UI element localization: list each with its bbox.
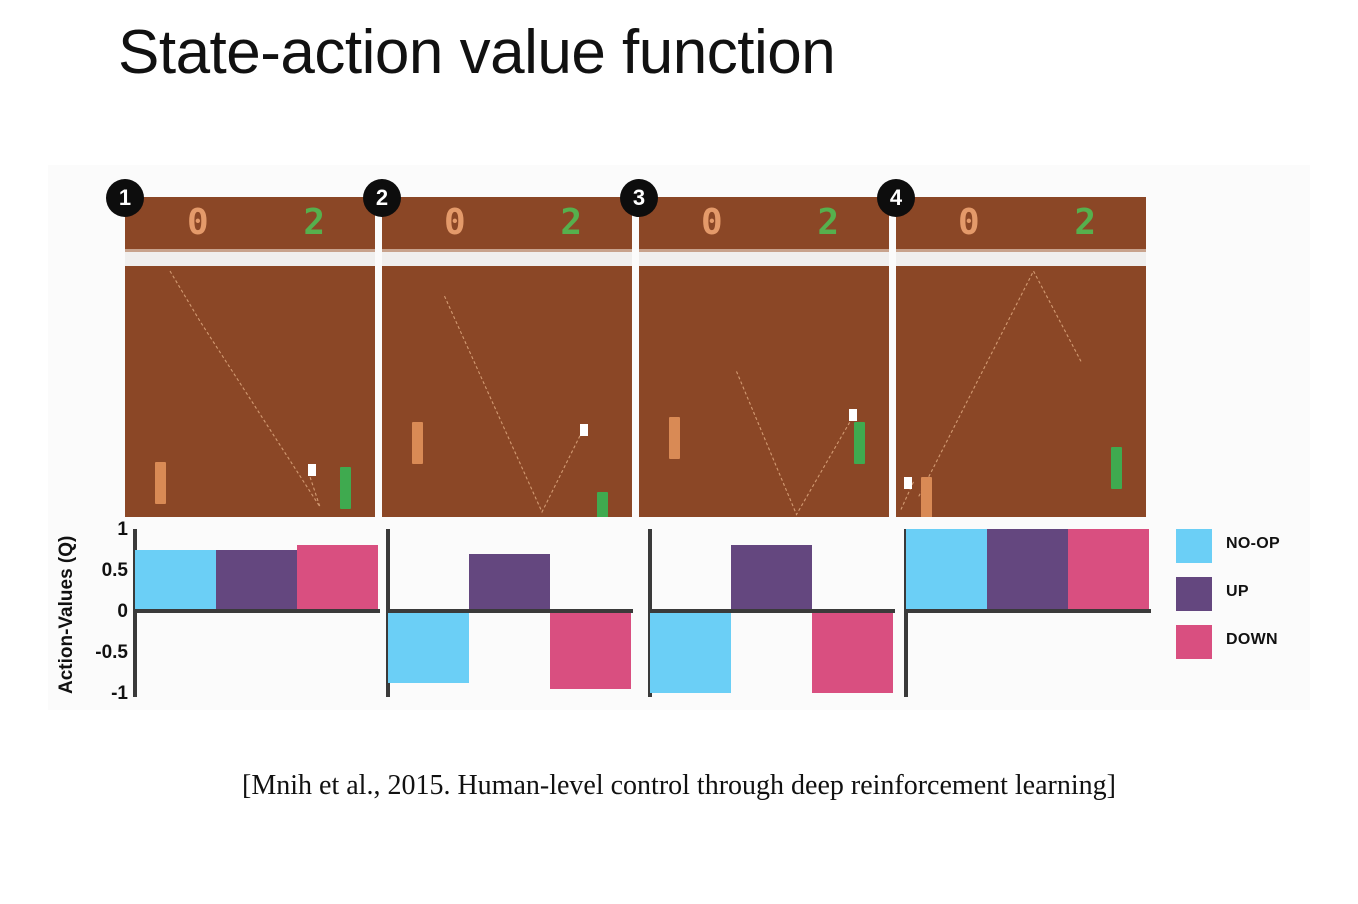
bar-down-panel-2 [550, 611, 631, 689]
ball [849, 409, 857, 421]
ball [904, 477, 912, 489]
score-left-player: 0 [187, 204, 211, 242]
score-right-player: 2 [1074, 204, 1098, 242]
chart-panel-4 [904, 517, 1152, 707]
zero-baseline [648, 609, 895, 613]
score-left-player: 0 [701, 204, 725, 242]
score-right-player: 2 [560, 204, 584, 242]
score-right-player: 2 [303, 204, 327, 242]
game-frame-4: 02 [896, 197, 1146, 517]
score-separator [125, 252, 375, 266]
paddle-right [597, 492, 608, 517]
bar-no-op-panel-3 [650, 611, 731, 693]
score-left-player: 0 [958, 204, 982, 242]
y-tick-column: 10.50-0.5-1 [84, 517, 128, 707]
y-tick-1: 1 [117, 520, 128, 539]
frame-badge-2: 2 [363, 179, 401, 217]
ball [580, 424, 588, 436]
score-band: 02 [896, 197, 1146, 252]
y-tick-0.5: 0.5 [102, 561, 128, 580]
score-right-player: 2 [817, 204, 841, 242]
figure-caption: [Mnih et al., 2015. Human-level control … [0, 770, 1358, 802]
zero-baseline [386, 609, 633, 613]
legend-label-up: UP [1226, 583, 1249, 601]
frame-badge-1: 1 [106, 179, 144, 217]
ball-trajectory [382, 266, 632, 517]
bar-up-panel-2 [469, 554, 550, 611]
paddle-right [1111, 447, 1122, 490]
score-separator [382, 252, 632, 266]
bar-down-panel-1 [297, 545, 378, 611]
frame-badge-4: 4 [877, 179, 915, 217]
legend-swatch-up [1176, 577, 1212, 611]
ball-trajectory [639, 266, 889, 517]
playfield [382, 266, 632, 517]
chart-panel-2 [386, 517, 634, 707]
legend-swatch-down [1176, 625, 1212, 659]
paddle-left [412, 422, 423, 465]
y-tick--1: -1 [111, 684, 128, 703]
bar-up-panel-3 [731, 545, 812, 611]
slide-title: State-action value function [118, 22, 835, 84]
ball-trajectory [896, 266, 1146, 517]
paddle-right [854, 422, 865, 465]
paddle-left [921, 477, 932, 517]
legend-label-no-op: NO-OP [1226, 535, 1280, 553]
paddle-right [340, 467, 351, 510]
legend-swatch-no-op [1176, 529, 1212, 563]
legend-item-up: UP [1176, 573, 1316, 621]
bar-up-panel-4 [987, 529, 1068, 611]
bar-down-panel-4 [1068, 529, 1149, 611]
score-separator [639, 252, 889, 266]
score-band: 02 [125, 197, 375, 252]
frame-badge-3: 3 [620, 179, 658, 217]
bar-down-panel-3 [812, 611, 893, 693]
figure-panel: 021022023024 Action-Values (Q) 10.50-0.5… [48, 165, 1310, 710]
score-band: 02 [382, 197, 632, 252]
y-axis-label: Action-Values (Q) [56, 535, 84, 695]
zero-baseline [904, 609, 1151, 613]
paddle-left [669, 417, 680, 460]
bar-no-op-panel-2 [388, 611, 469, 683]
legend-item-no-op: NO-OP [1176, 525, 1316, 573]
chart-panel-1 [133, 517, 381, 707]
action-value-chart: Action-Values (Q) 10.50-0.5-1 [48, 517, 1310, 707]
bar-no-op-panel-1 [135, 550, 216, 612]
y-tick--0.5: -0.5 [95, 643, 128, 662]
playfield [125, 266, 375, 517]
playfield [896, 266, 1146, 517]
ball [308, 464, 316, 476]
score-separator [896, 252, 1146, 266]
score-left-player: 0 [444, 204, 468, 242]
y-tick-0: 0 [117, 602, 128, 621]
legend-item-down: DOWN [1176, 621, 1316, 669]
chart-panel-3 [648, 517, 896, 707]
game-frame-1: 02 [125, 197, 375, 517]
bar-up-panel-1 [216, 550, 297, 612]
game-frame-2: 02 [382, 197, 632, 517]
legend-label-down: DOWN [1226, 631, 1278, 649]
chart-legend: NO-OPUPDOWN [1176, 525, 1316, 669]
paddle-left [155, 462, 166, 505]
game-frame-3: 02 [639, 197, 889, 517]
playfield [639, 266, 889, 517]
bar-no-op-panel-4 [906, 529, 987, 611]
score-band: 02 [639, 197, 889, 252]
zero-baseline [133, 609, 380, 613]
